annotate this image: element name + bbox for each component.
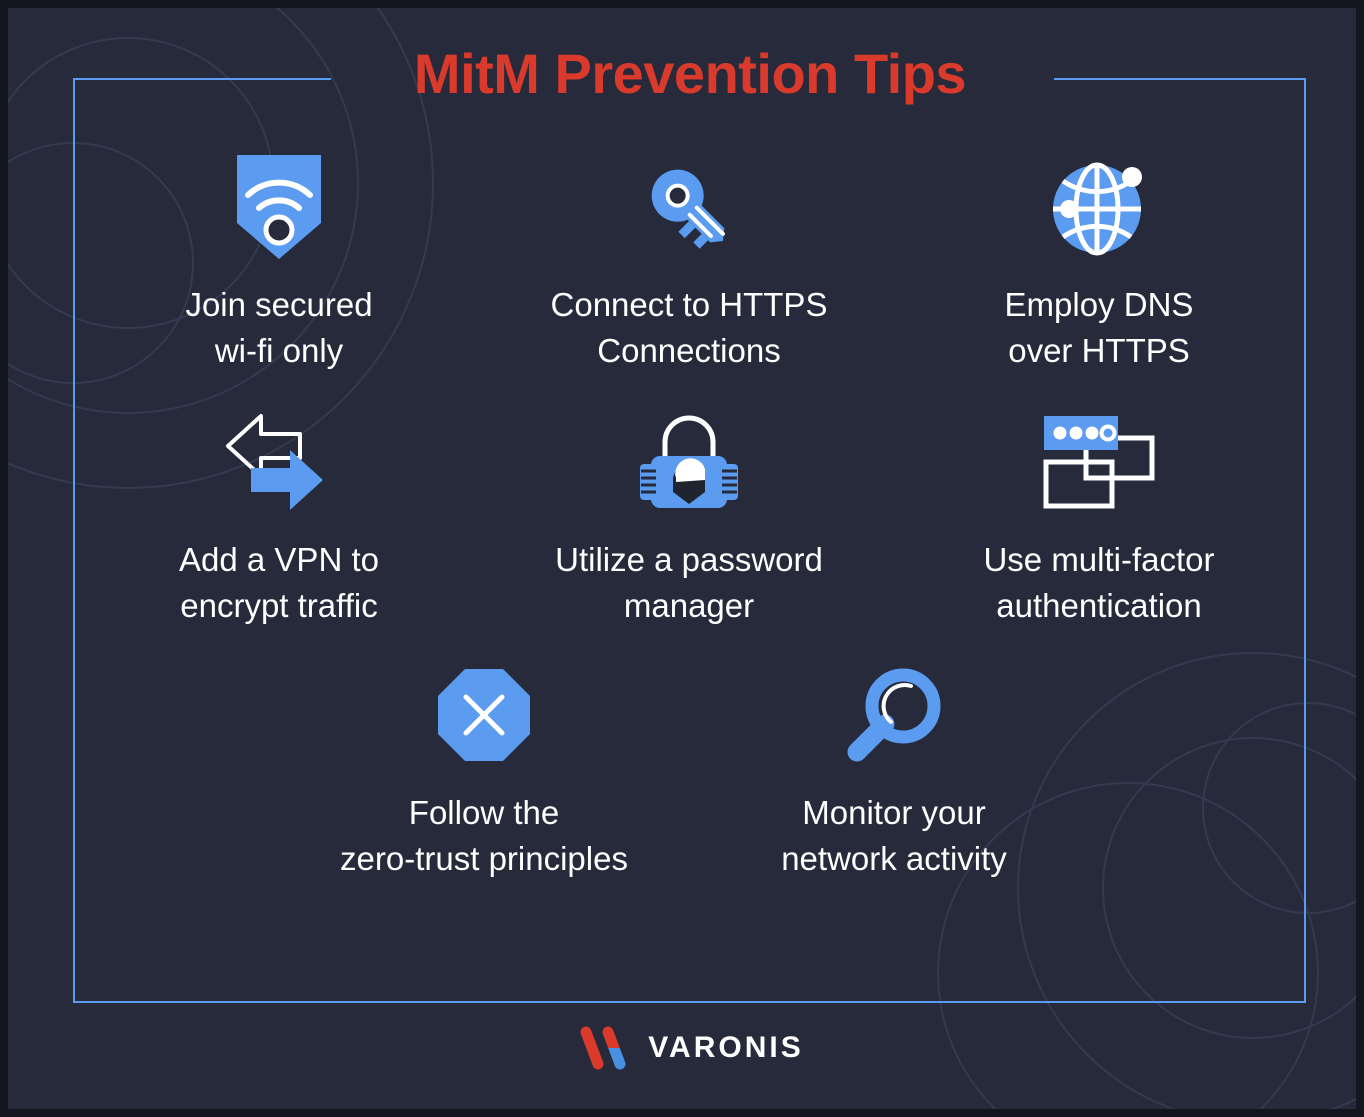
tip-zero-trust: Follow the zero-trust principles	[279, 656, 689, 881]
tip-label: Monitor your network activity	[781, 790, 1007, 881]
password-fields-icon	[1040, 403, 1158, 521]
varonis-wordmark: VARONIS	[648, 1031, 803, 1065]
tip-label: Use multi-factor authentication	[983, 537, 1214, 628]
tip-monitor-network: Monitor your network activity	[689, 656, 1099, 881]
tip-label: Utilize a password manager	[555, 537, 823, 628]
tips-row: Join secured wi-fi only	[74, 148, 1304, 373]
tips-row: Follow the zero-trust principles Monitor…	[74, 656, 1304, 881]
frame-right-edge	[1304, 78, 1306, 1003]
tips-row: Add a VPN to encrypt traffic	[74, 403, 1304, 628]
tip-dns-over-https: Employ DNS over HTTPS	[894, 148, 1304, 373]
tip-password-manager: Utilize a password manager	[484, 403, 894, 628]
tip-secured-wifi: Join secured wi-fi only	[74, 148, 484, 373]
infographic-canvas: MitM Prevention Tips Join secured wi-fi …	[0, 0, 1364, 1117]
tip-label: Connect to HTTPS Connections	[551, 282, 828, 373]
tip-label: Add a VPN to encrypt traffic	[179, 537, 379, 628]
page-title: MitM Prevention Tips	[8, 46, 1364, 102]
two-arrows-icon	[224, 403, 334, 521]
tip-mfa: Use multi-factor authentication	[894, 403, 1304, 628]
octagon-x-icon	[436, 656, 532, 774]
frame-bottom-edge	[73, 1001, 1306, 1003]
globe-icon	[1047, 148, 1151, 266]
tip-label: Employ DNS over HTTPS	[1005, 282, 1194, 373]
tip-label: Follow the zero-trust principles	[340, 790, 628, 881]
magnifier-icon	[843, 656, 945, 774]
varonis-logo: VARONIS	[8, 1026, 1364, 1070]
varonis-mark-icon	[576, 1026, 634, 1070]
tips-grid: Join secured wi-fi only	[74, 148, 1304, 881]
wifi-shield-icon	[231, 148, 327, 266]
padlock-icon	[635, 403, 743, 521]
tip-https-connections: Connect to HTTPS Connections	[484, 148, 894, 373]
tip-vpn: Add a VPN to encrypt traffic	[74, 403, 484, 628]
key-icon	[637, 148, 741, 266]
tip-label: Join secured wi-fi only	[185, 282, 372, 373]
